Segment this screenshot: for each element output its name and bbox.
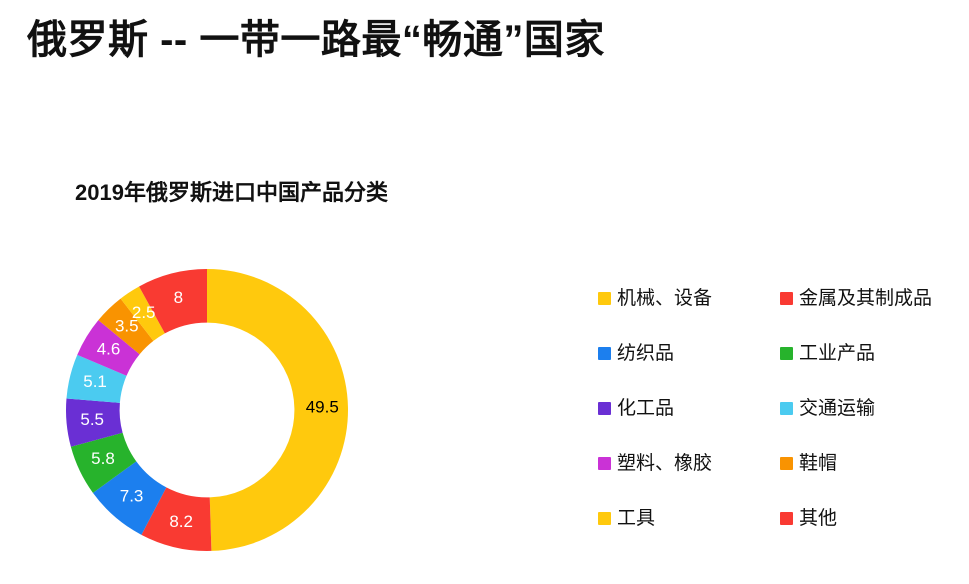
- donut-chart-svg: 49.58.27.35.85.55.14.63.52.58: [64, 267, 350, 553]
- legend-swatch-icon: [598, 402, 611, 415]
- legend-swatch-icon: [598, 292, 611, 305]
- legend-item-label: 鞋帽: [799, 454, 837, 473]
- legend-item-label: 工业产品: [799, 344, 875, 363]
- legend-item-label: 工具: [617, 509, 655, 528]
- legend-swatch-icon: [780, 292, 793, 305]
- legend-item-label: 纺织品: [617, 344, 674, 363]
- donut-slice-value-label: 5.8: [91, 449, 115, 468]
- chart-legend: 机械、设备 金属及其制成品 纺织品 工业产品 化工品 交通运输 塑料、橡胶 鞋帽…: [598, 286, 958, 561]
- legend-item-suliao-xiangjiao[interactable]: 塑料、橡胶: [598, 451, 780, 475]
- legend-item-label: 化工品: [617, 399, 674, 418]
- donut-chart: 49.58.27.35.85.55.14.63.52.58: [64, 267, 350, 553]
- legend-item-label: 其他: [799, 509, 837, 528]
- legend-item-label: 塑料、橡胶: [617, 454, 712, 473]
- legend-swatch-icon: [598, 347, 611, 360]
- donut-slice-value-label: 8.2: [169, 512, 193, 531]
- legend-item-huagongpin[interactable]: 化工品: [598, 396, 780, 420]
- legend-swatch-icon: [780, 402, 793, 415]
- donut-slice-value-label: 5.5: [80, 410, 104, 429]
- legend-item-qita[interactable]: 其他: [780, 506, 958, 530]
- legend-swatch-icon: [598, 457, 611, 470]
- legend-item-label: 交通运输: [799, 399, 875, 418]
- donut-slice-value-label: 5.1: [83, 372, 107, 391]
- legend-swatch-icon: [780, 347, 793, 360]
- legend-item-gongye-chanpin[interactable]: 工业产品: [780, 341, 958, 365]
- legend-swatch-icon: [780, 512, 793, 525]
- legend-swatch-icon: [780, 457, 793, 470]
- donut-slice-value-label: 2.5: [132, 303, 156, 322]
- legend-item-jixie-shebei[interactable]: 机械、设备: [598, 286, 780, 310]
- legend-item-fangzhipin[interactable]: 纺织品: [598, 341, 780, 365]
- donut-slice-value-label: 7.3: [120, 487, 144, 506]
- legend-item-gongju[interactable]: 工具: [598, 506, 780, 530]
- legend-item-label: 机械、设备: [617, 289, 712, 308]
- donut-slice-value-label: 49.5: [306, 398, 339, 417]
- legend-item-jiaotong-yunshu[interactable]: 交通运输: [780, 396, 958, 420]
- chart-title: 2019年俄罗斯进口中国产品分类: [75, 180, 388, 206]
- legend-item-jinshu-zhipin[interactable]: 金属及其制成品: [780, 286, 958, 310]
- donut-slice-value-label: 4.6: [97, 340, 121, 359]
- legend-item-xiemao[interactable]: 鞋帽: [780, 451, 958, 475]
- page-title: 俄罗斯 -- 一带一路最“畅通”国家: [27, 16, 605, 64]
- donut-slice-value-label: 8: [174, 288, 183, 307]
- legend-item-label: 金属及其制成品: [799, 289, 932, 308]
- legend-swatch-icon: [598, 512, 611, 525]
